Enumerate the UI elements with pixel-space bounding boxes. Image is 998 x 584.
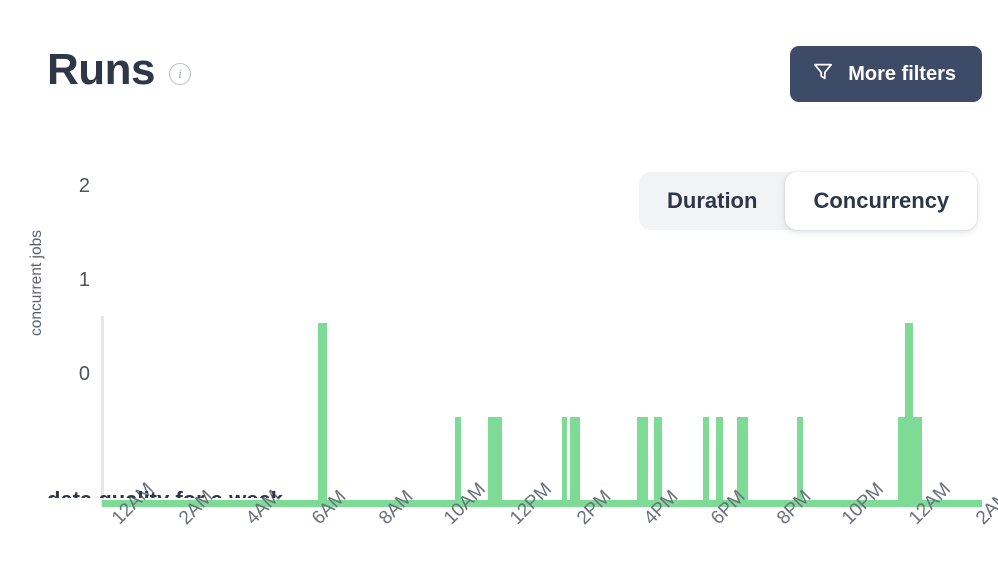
tab-duration[interactable]: Duration (639, 172, 785, 230)
bar[interactable] (637, 417, 648, 507)
bar[interactable] (562, 417, 567, 507)
more-filters-button[interactable]: More filters (790, 46, 982, 102)
clipped-caption: data quality for a week (47, 487, 283, 498)
page-title-group: Runs i (47, 48, 191, 92)
bar[interactable] (905, 323, 913, 507)
info-icon[interactable]: i (169, 63, 191, 85)
bar[interactable] (570, 417, 580, 507)
x-axis-ticks: 12AM 2AM 4AM 6AM 8AM 10AM 12PM 2PM 4PM 6… (0, 514, 998, 584)
y-tick-label: 1 (56, 270, 90, 290)
bar[interactable] (703, 417, 709, 507)
more-filters-label: More filters (848, 63, 956, 86)
chart-metric-toggle: Duration Concurrency (639, 172, 977, 230)
funnel-icon (812, 60, 834, 88)
bars-layer (0, 316, 998, 507)
tab-concurrency[interactable]: Concurrency (785, 172, 977, 230)
bar[interactable] (716, 417, 723, 507)
bar[interactable] (913, 417, 922, 507)
bar[interactable] (318, 323, 327, 507)
page-title: Runs (47, 48, 155, 92)
y-tick-label: 2 (56, 176, 90, 196)
page-header: Runs i More filters (0, 0, 998, 130)
